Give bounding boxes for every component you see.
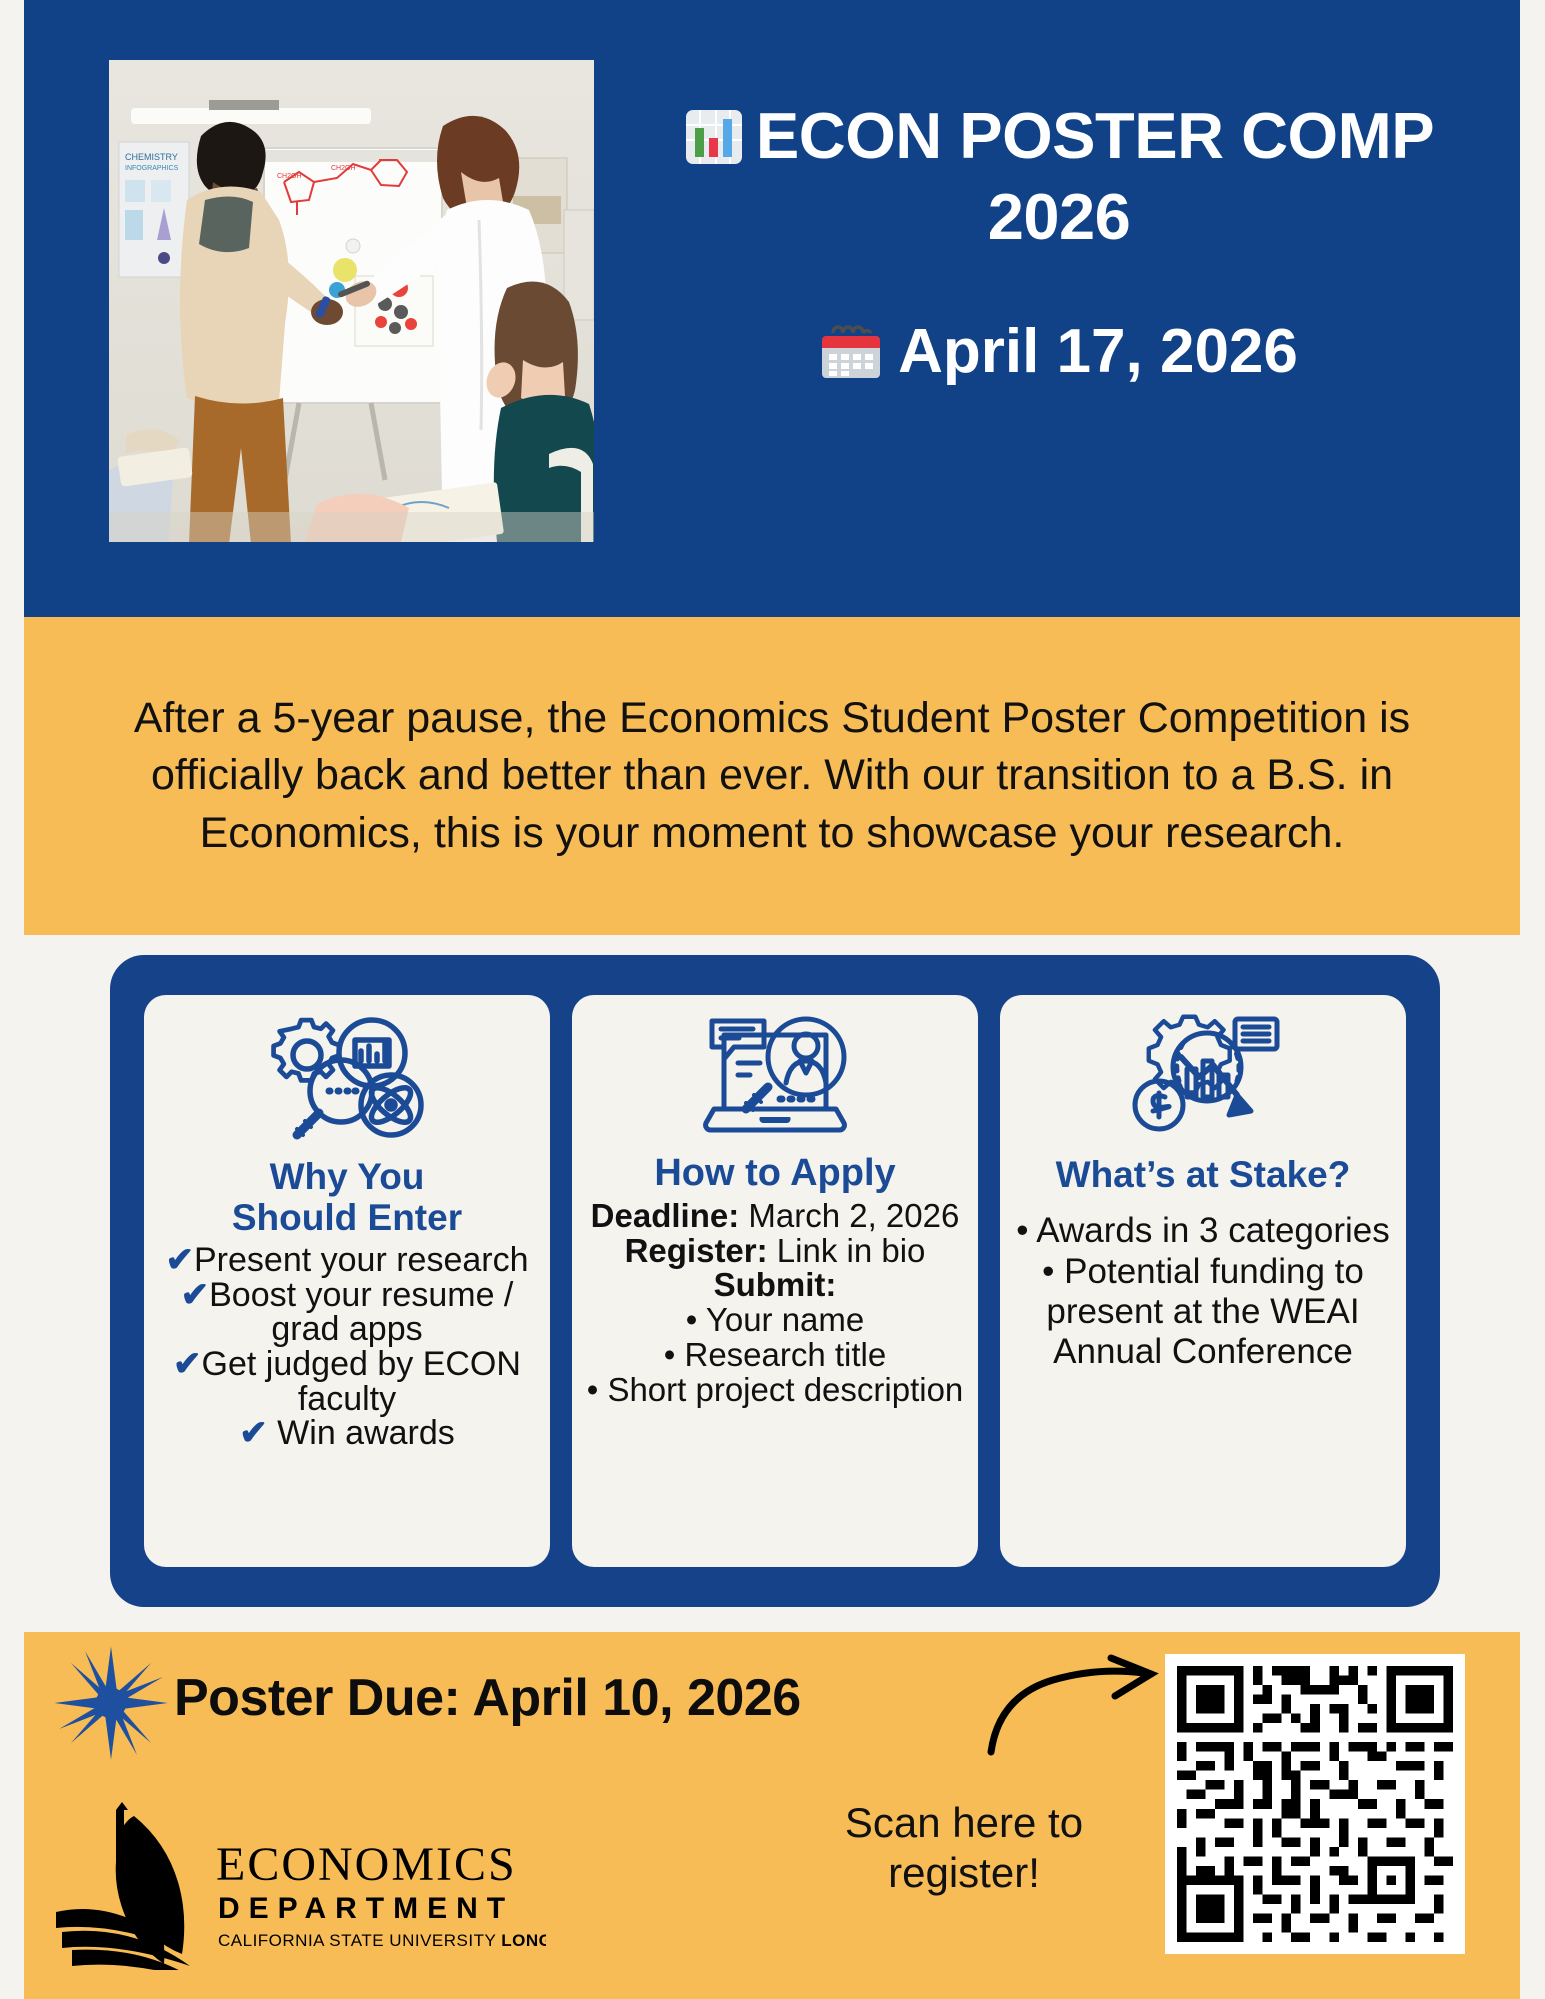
card-stake-item-1: Potential funding to present at the WEAI…	[1046, 1252, 1363, 1372]
scan-instruction: Scan here to register!	[814, 1798, 1114, 1897]
card-apply-item-2: Short project description	[607, 1371, 963, 1408]
card-how-to-apply: How to Apply Deadline: March 2, 2026 Reg…	[572, 995, 978, 1567]
card-apply-item-1: Research title	[684, 1336, 886, 1373]
page-title: ECON POSTER COMP 2026	[624, 100, 1494, 254]
svg-text:CH2OH: CH2OH	[277, 173, 302, 180]
register-label: Register:	[625, 1232, 768, 1269]
scan-line2: register!	[888, 1849, 1040, 1896]
svg-text:CHEMISTRY: CHEMISTRY	[125, 152, 178, 162]
check-icon: ✔	[166, 1241, 195, 1279]
card-why-title: Why You Should Enter	[232, 1156, 462, 1239]
header-banner: CHEMISTRY INFOGRAPHICS	[24, 0, 1520, 617]
logo-line2: DEPARTMENT	[218, 1892, 514, 1925]
card-why-list: ✔Present your research ✔Boost your resum…	[150, 1243, 544, 1451]
economics-department-logo: ECONOMICS DEPARTMENT CALIFORNIA STATE UN…	[46, 1800, 546, 1975]
deadline-value: March 2, 2026	[748, 1197, 959, 1234]
check-icon: ✔	[173, 1345, 202, 1383]
gear-chart-dollar-icon	[1123, 1013, 1283, 1148]
card-stake-list: • Awards in 3 categories • Potential fun…	[1006, 1211, 1400, 1372]
header-date-block: April 17, 2026	[624, 318, 1494, 396]
card-why-item-0: Present your research	[194, 1241, 529, 1279]
logo-line3-b: LONG BEACH	[501, 1931, 546, 1950]
card-why-title-line1: Why You	[270, 1156, 425, 1197]
event-date: April 17, 2026	[624, 318, 1494, 396]
header-title-block: ECON POSTER COMP 2026	[624, 100, 1494, 254]
card-apply-item-0: Your name	[706, 1301, 864, 1338]
logo-line1: ECONOMICS	[216, 1838, 517, 1891]
card-stake-item-0: Awards in 3 categories	[1036, 1211, 1389, 1250]
submit-label: Submit:	[578, 1268, 972, 1303]
register-value: Link in bio	[777, 1232, 926, 1269]
card-why-you-should-enter: Why You Should Enter ✔Present your resea…	[144, 995, 550, 1567]
footer-banner: Poster Due: April 10, 2026 ECONOMICS DEP…	[24, 1632, 1520, 1999]
card-why-item-3: Win awards	[277, 1414, 455, 1452]
card-apply-title: How to Apply	[654, 1152, 895, 1195]
svg-text:CALIFORNIA STATE UNIVERSITY LO: CALIFORNIA STATE UNIVERSITY LONG BEACH	[218, 1931, 546, 1950]
card-apply-body: Deadline: March 2, 2026 Register: Link i…	[578, 1199, 972, 1409]
check-icon: ✔	[181, 1276, 210, 1314]
poster-due-text: Poster Due: April 10, 2026	[174, 1668, 801, 1728]
svg-text:INFOGRAPHICS: INFOGRAPHICS	[125, 165, 179, 172]
calendar-icon	[820, 320, 882, 396]
svg-text:CH2OH: CH2OH	[331, 165, 356, 172]
laptop-profile-search-icon	[694, 1013, 856, 1146]
card-why-title-line2: Should Enter	[232, 1197, 462, 1238]
deadline-label: Deadline:	[591, 1197, 740, 1234]
curved-arrow-icon	[979, 1652, 1169, 1767]
qr-code-image[interactable]	[1177, 1666, 1453, 1942]
qr-code[interactable]	[1165, 1654, 1465, 1954]
bar-chart-icon	[684, 108, 744, 181]
logo-line3-a: CALIFORNIA STATE UNIVERSITY	[218, 1931, 501, 1950]
check-icon: ✔	[239, 1414, 268, 1452]
scan-line1: Scan here to	[845, 1799, 1083, 1846]
intro-text: After a 5-year pause, the Economics Stud…	[127, 690, 1417, 862]
research-analytics-icon	[267, 1013, 427, 1150]
page-title-line2: 2026	[624, 181, 1494, 254]
intro-banner: After a 5-year pause, the Economics Stud…	[24, 617, 1520, 935]
page-title-line1: ECON POSTER COMP	[756, 99, 1434, 172]
header-photo: CHEMISTRY INFOGRAPHICS	[109, 60, 594, 542]
card-why-item-1: Boost your resume / grad apps	[209, 1276, 513, 1349]
card-whats-at-stake: What’s at Stake? • Awards in 3 categorie…	[1000, 995, 1406, 1567]
poster-root: CHEMISTRY INFOGRAPHICS	[0, 0, 1545, 1999]
info-cards-container: Why You Should Enter ✔Present your resea…	[110, 955, 1440, 1607]
event-date-text: April 17, 2026	[898, 317, 1298, 386]
card-why-item-2: Get judged by ECON faculty	[202, 1345, 521, 1418]
header-photo-image: CHEMISTRY INFOGRAPHICS	[109, 60, 594, 542]
sparkle-star-icon	[52, 1644, 170, 1767]
card-stake-title: What’s at Stake?	[1056, 1154, 1351, 1195]
